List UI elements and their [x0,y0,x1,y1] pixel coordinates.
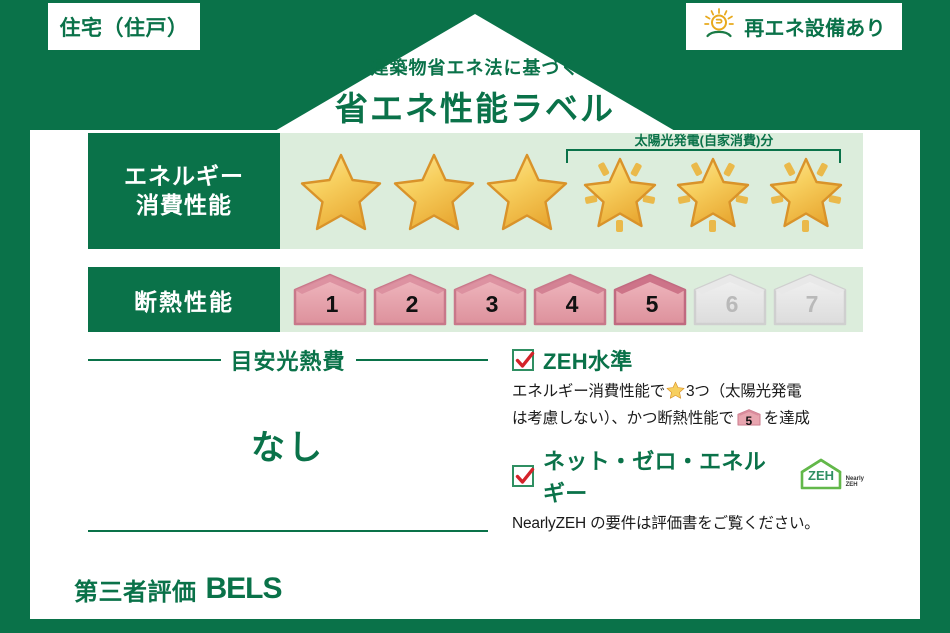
insulation-level-number: 1 [326,283,339,316]
zeh-desc-part1: エネルギー消費性能で [512,383,665,400]
energy-performance-row-body: 太陽光発電(自家消費)分 [280,133,863,249]
renewable-badge-label: 再エネ設備あり [744,12,885,41]
energy-performance-label: 住宅（住戸） 再エネ設備あり 建築物省エネ法に基づく [0,0,950,633]
checkbox-checked-icon[interactable] [512,465,534,487]
insulation-level-scale: 1 2 3 [280,267,863,332]
utility-cost-heading: 目安光熱費 [231,344,346,376]
star-icon-solar [666,141,759,241]
insulation-performance-row-body: 1 2 3 [280,267,863,332]
renewable-equipment-badge: 再エネ設備あり [686,3,902,50]
zeh-panel: ZEH水準 エネルギー消費性能で3つ（太陽光発電は考慮しない）、かつ断熱性能で5… [512,344,864,550]
zeh-logo-sub-line2: ZEH [846,482,858,488]
zeh-logo-sub-line1: Nearly [846,476,864,482]
insulation-level-marker: 3 [452,273,532,327]
bels-badge-en-label: BELS [206,572,282,606]
insulation-level-marker-achieved: 5 [612,273,692,327]
zeh-desc-star-count: 3つ（太陽光発電 [686,383,802,400]
insulation-level-number: 3 [486,283,499,316]
svg-text:ZEH: ZEH [808,468,834,483]
insulation-level-number: 6 [726,283,739,316]
utility-cost-panel: 目安光熱費 なし [88,344,488,536]
utility-cost-bottom-rule [88,530,488,532]
zeh-logo: ZEH Nearly ZEH [798,457,864,496]
insulation-level-badge-inline: 5 [736,409,762,426]
star-icon [294,141,387,241]
rule-left [88,359,221,361]
zeh-net-zero-heading: ネット・ゼロ・エネルギー ZEH Nearly ZEH [512,444,864,508]
insulation-level-marker-inactive: 6 [692,273,772,327]
label-footer: 第三者評価 BELS セキュレア伏見区深草北蓮池町15号地 分譲住宅新築工事 評… [0,560,950,633]
zeh-desc-part2: は考慮しない）、かつ断熱性能で [512,410,734,427]
sun-solar-icon [702,7,736,46]
insulation-performance-row: 断熱性能 [88,267,863,332]
energy-label-line2: 消費性能 [136,191,232,220]
checkbox-checked-icon[interactable] [512,349,534,371]
insulation-label: 断熱性能 [134,283,234,317]
insulation-level-marker: 1 [292,273,372,327]
utility-cost-value: なし [88,420,488,469]
insulation-level-number: 7 [806,283,819,316]
zeh-logo-subtext: Nearly ZEH [846,476,864,496]
label-title: 省エネ性能ラベル [0,82,950,130]
footer-project-name: セキュレア伏見区深草北蓮池町15号地 分譲住宅新築工事 [336,568,684,607]
bels-certification-badge: 第三者評価 BELS [62,568,294,610]
zeh-net-zero-description: NearlyZEH の要件は評価書をご覧ください。 [512,512,864,536]
footer-evaluation-date: 評価日 2025年3月24日 [724,569,884,593]
insulation-level-number: 4 [566,283,579,316]
house-type-badge-label: 住宅（住戸） [60,12,189,42]
zeh-standard-title: ZEH水準 [543,344,633,376]
star-icon-solar [759,141,852,241]
zeh-standard-description: エネルギー消費性能で3つ（太陽光発電は考慮しない）、かつ断熱性能で5を達成 [512,380,864,430]
zeh-standard-heading: ZEH水準 [512,344,864,376]
zeh-desc-part3: を達成 [764,410,810,427]
zeh-item-standard: ZEH水準 エネルギー消費性能で3つ（太陽光発電は考慮しない）、かつ断熱性能で5… [512,344,864,430]
energy-performance-row: エネルギー 消費性能 太陽光発電(自家消費)分 [88,133,863,249]
footer-document-id: 187ad9c0-9310-4145 [776,594,884,606]
insulation-level-number: 2 [406,283,419,316]
star-icon [480,141,573,241]
insulation-level-number: 5 [646,283,659,316]
energy-label-line1: エネルギー [124,162,244,191]
star-icon-inline [666,386,685,403]
label-title-block: 建築物省エネ法に基づく 省エネ性能ラベル [0,54,950,130]
house-type-badge: 住宅（住戸） [48,3,200,50]
star-icon-solar [573,141,666,241]
insulation-level-marker-inactive: 7 [772,273,852,327]
energy-performance-row-label: エネルギー 消費性能 [88,133,280,249]
insulation-performance-row-label: 断熱性能 [88,267,280,332]
bels-badge-jp-label: 第三者評価 [74,572,197,607]
star-icon [387,141,480,241]
zeh-item-net-zero: ネット・ゼロ・エネルギー ZEH Nearly ZEH Nea [512,444,864,536]
utility-cost-heading-row: 目安光熱費 [88,344,488,376]
zeh-net-zero-title: ネット・ゼロ・エネルギー [543,444,785,508]
insulation-level-marker: 2 [372,273,452,327]
rule-right [356,359,489,361]
zeh-house-logo-icon: ZEH [798,457,844,496]
energy-star-rating [280,133,863,249]
insulation-level-badge-number: 5 [736,412,762,430]
insulation-level-marker: 4 [532,273,612,327]
label-subtitle: 建築物省エネ法に基づく [0,54,950,80]
